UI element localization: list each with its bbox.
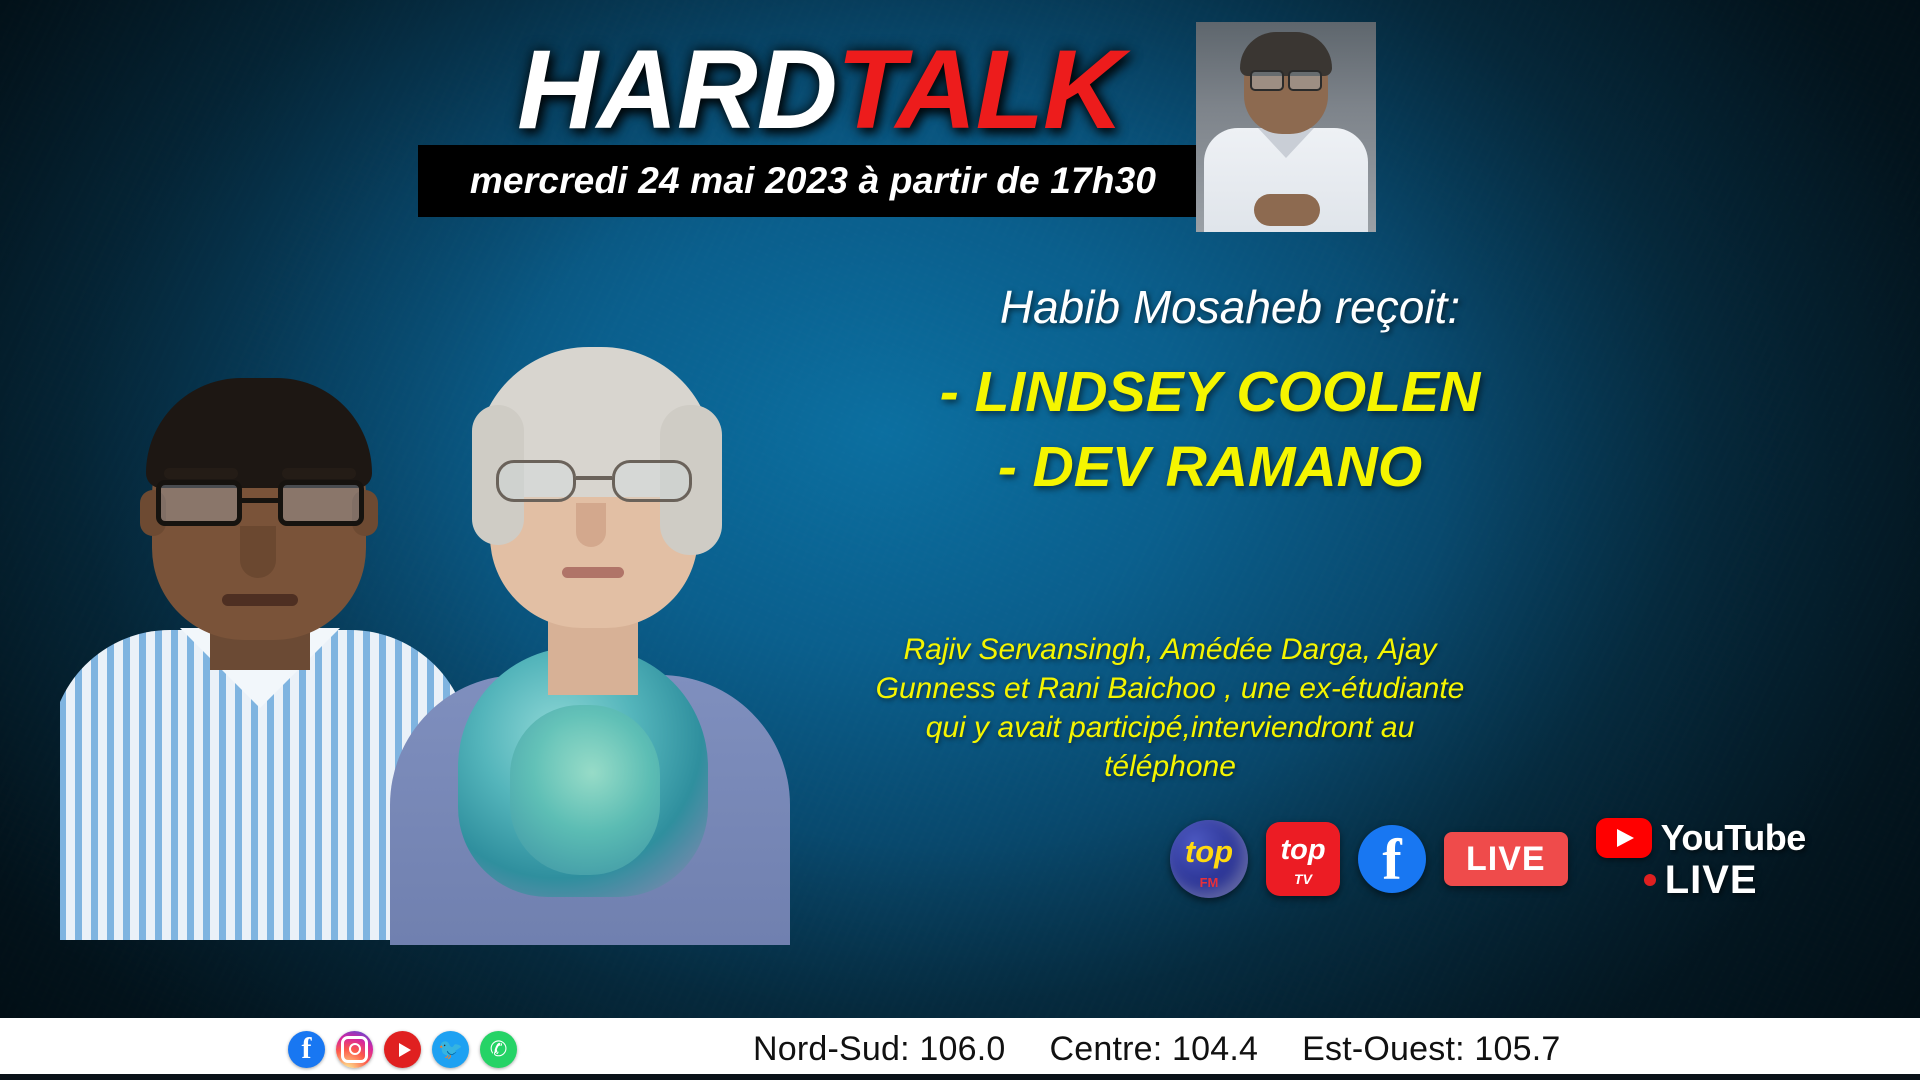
youtube-live-word: LIVE xyxy=(1665,860,1758,900)
youtube-live-logo[interactable]: YouTube LIVE xyxy=(1596,818,1806,900)
whatsapp-icon[interactable]: ✆ xyxy=(480,1031,517,1068)
guest-name-2: - DEV RAMANO xyxy=(840,430,1580,505)
frequency-est-ouest: Est-Ouest: 105.7 xyxy=(1302,1030,1560,1069)
topfm-word: top xyxy=(1170,836,1248,867)
toptv-word: top xyxy=(1266,836,1340,865)
facebook-glyph: f xyxy=(1358,831,1426,889)
youtube-play-icon xyxy=(1596,818,1652,858)
guest-woman-glasses-icon xyxy=(496,460,692,502)
host-glasses-icon xyxy=(1250,70,1322,87)
host-portrait-photo xyxy=(1196,22,1376,232)
frequency-nord-sud: Nord-Sud: 106.0 xyxy=(753,1030,1006,1069)
frequency-centre: Centre: 104.4 xyxy=(1050,1030,1259,1069)
live-dot-icon xyxy=(1644,874,1656,886)
instagram-icon[interactable] xyxy=(336,1031,373,1068)
title-talk: TALK xyxy=(837,27,1123,152)
guest-names: - LINDSEY COOLEN - DEV RAMANO xyxy=(840,355,1580,505)
host-intro-line: Habib Mosaheb reçoit: xyxy=(880,280,1580,334)
footer-edge xyxy=(0,1074,1920,1080)
twitter-icon[interactable]: 🐦 xyxy=(432,1031,469,1068)
facebook-icon[interactable]: f xyxy=(288,1031,325,1068)
guest-note: Rajiv Servansingh, Amédée Darga, Ajay Gu… xyxy=(860,630,1480,786)
show-title-text: HARDTALK xyxy=(470,30,1170,151)
promo-poster: HARDTALK mercredi 24 mai 2023 à partir d… xyxy=(0,0,1920,1080)
date-banner-text: mercredi 24 mai 2023 à partir de 17h30 xyxy=(470,160,1156,202)
title-hard: HARD xyxy=(517,27,837,152)
toptv-sub: TV xyxy=(1266,872,1340,886)
date-banner: mercredi 24 mai 2023 à partir de 17h30 xyxy=(418,145,1208,217)
social-icons: f 🐦 ✆ xyxy=(288,1031,517,1068)
broadcast-logos: top FM top TV f LIVE YouTube LIVE xyxy=(1170,818,1806,900)
topfm-logo[interactable]: top FM xyxy=(1170,820,1248,898)
topfm-sub: FM xyxy=(1170,876,1248,889)
toptv-logo[interactable]: top TV xyxy=(1266,822,1340,896)
facebook-live-badge[interactable]: LIVE xyxy=(1444,832,1568,886)
show-title: HARDTALK xyxy=(470,30,1170,151)
guest-man-glasses-icon xyxy=(156,480,364,526)
guest-name-1: - LINDSEY COOLEN xyxy=(840,355,1580,430)
youtube-icon[interactable] xyxy=(384,1031,421,1068)
footer-bar: f 🐦 ✆ Nord-Sud: 106.0 Centre: 104.4 Est-… xyxy=(0,1018,1920,1080)
guest-portrait-woman xyxy=(380,275,800,945)
facebook-logo-icon[interactable]: f xyxy=(1358,825,1426,893)
youtube-word: YouTube xyxy=(1661,820,1806,856)
frequency-list: Nord-Sud: 106.0 Centre: 104.4 Est-Ouest:… xyxy=(753,1030,1560,1069)
